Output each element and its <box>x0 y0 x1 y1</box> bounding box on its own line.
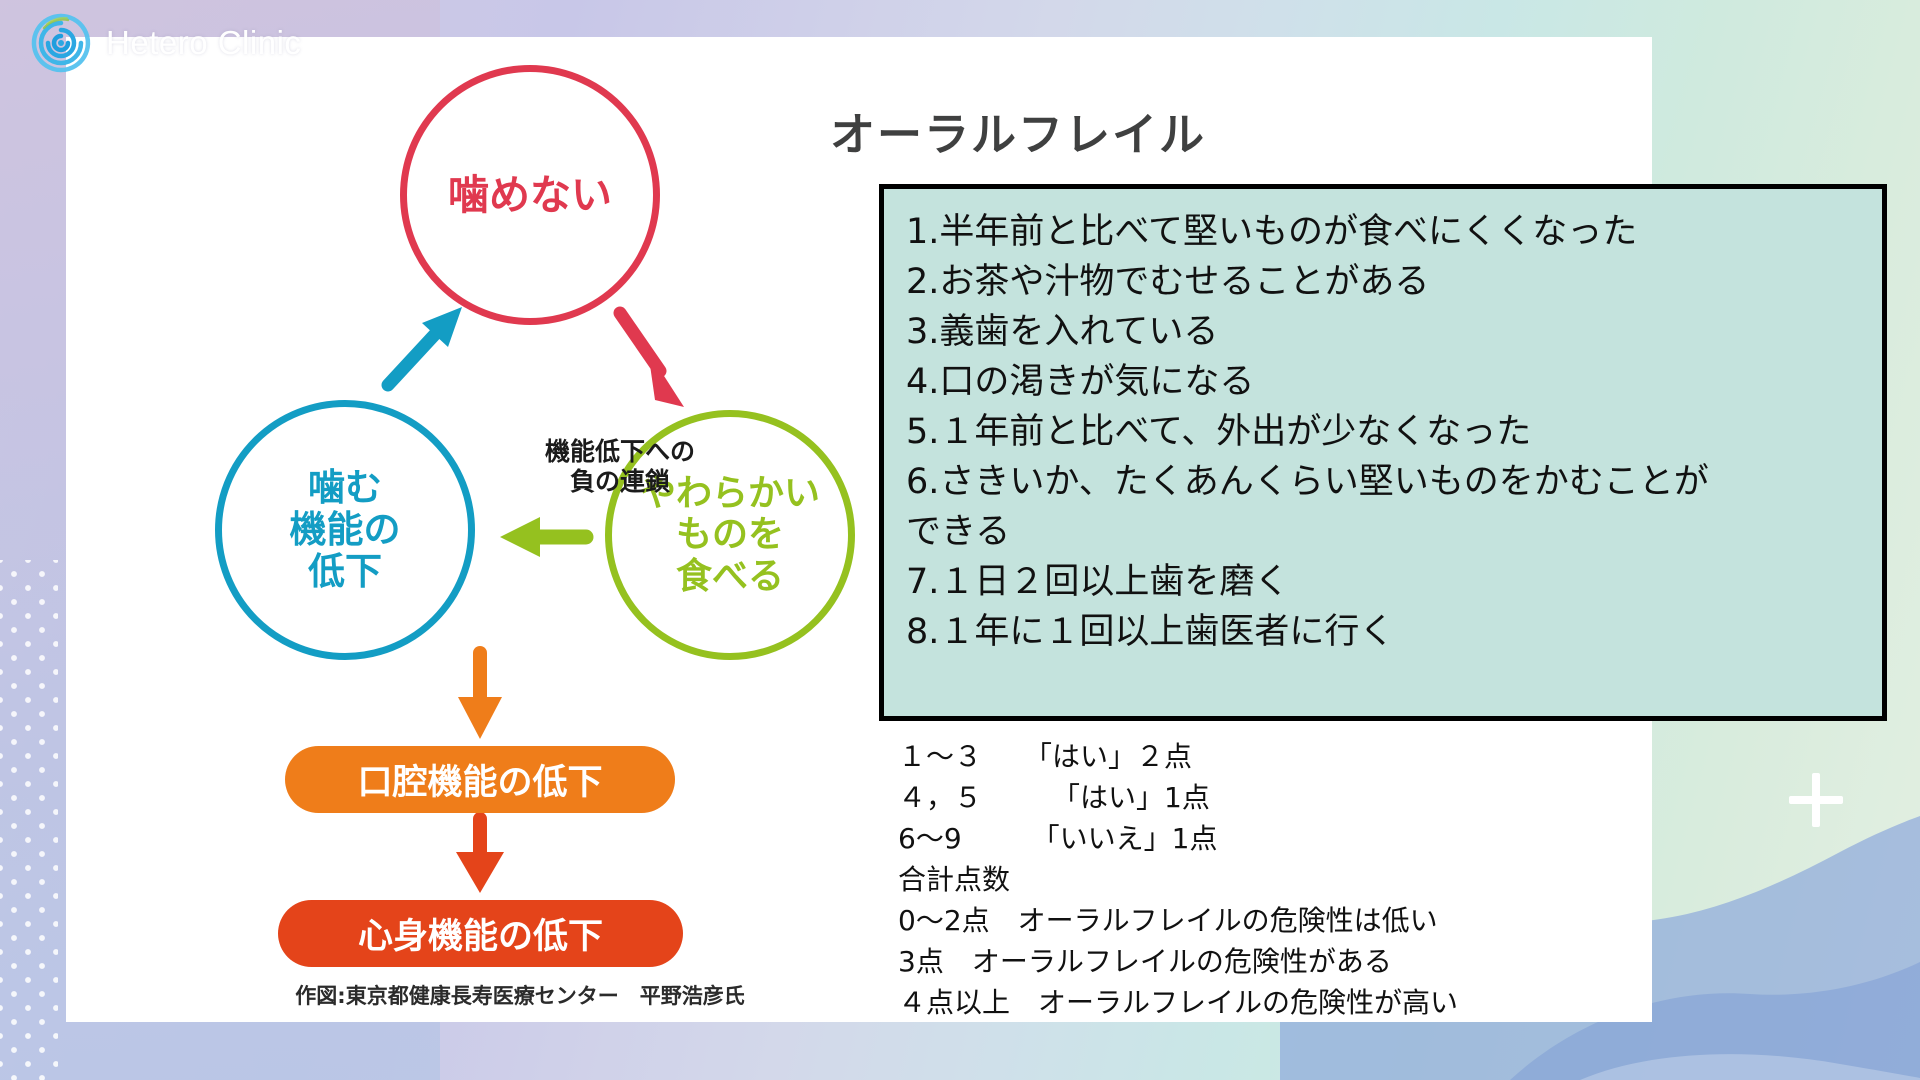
scoring-line: ４，５ 「はい」1点 <box>898 777 1658 818</box>
checklist-item: 1.半年前と比べて堅いものが食べにくくなった <box>906 207 1860 257</box>
scoring-line: 3点 オーラルフレイルの危険性がある <box>898 941 1658 982</box>
scoring-line: 合計点数 <box>898 859 1658 900</box>
checklist-item: 2.お茶や汁物でむせることがある <box>906 257 1860 307</box>
diagram-circle-chewing-function-decline: 噛む 機能の 低下 <box>215 400 475 660</box>
checklist-item: 7.１日２回以上歯を磨く <box>906 557 1860 607</box>
checklist-item: 6.さきいか、たくあんくらい堅いものをかむことが できる <box>906 457 1860 557</box>
oral-frailty-checklist-panel: 1.半年前と比べて堅いものが食べにくくなった 2.お茶や汁物でむせることがある … <box>879 184 1887 721</box>
diagram-negative-chain-label: 機能低下への 負の連鎖 <box>510 437 730 496</box>
spiral-logo-icon <box>30 12 92 74</box>
diagram-circle-cannot-chew: 噛めない <box>400 65 660 325</box>
page-title: オーラルフレイル <box>830 98 1206 163</box>
diagram-bar-physical-mental-decline: 心身機能の低下 <box>278 900 683 967</box>
diagram-credit: 作図:東京都健康長寿医療センター 平野浩彦氏 <box>230 980 810 1010</box>
checklist-item: 3.義歯を入れている <box>906 307 1860 357</box>
checklist-list: 1.半年前と比べて堅いものが食べにくくなった 2.お茶や汁物でむせることがある … <box>906 207 1860 657</box>
background-dot-pattern <box>0 560 58 1080</box>
checklist-item: 5.１年前と比べて、外出が少なくなった <box>906 407 1860 457</box>
scoring-line: 0～2点 オーラルフレイルの危険性は低い <box>898 900 1658 941</box>
scoring-legend: １～３ 「はい」２点 ４，５ 「はい」1点 6～9 「いいえ」1点 合計点数 0… <box>898 736 1658 1023</box>
oral-frailty-cycle-diagram: 噛めない 噛む 機能の 低下 やわらかい ものを 食べる 機能低下への 負の連鎖… <box>150 55 870 975</box>
scoring-line: １～３ 「はい」２点 <box>898 736 1658 777</box>
scoring-line: 6～9 「いいえ」1点 <box>898 818 1658 859</box>
checklist-item: 4.口の渇きが気になる <box>906 357 1860 407</box>
checklist-item: 8.１年に１回以上歯医者に行く <box>906 607 1860 657</box>
plus-decoration-icon <box>1789 773 1843 827</box>
scoring-line: ４点以上 オーラルフレイルの危険性が高い <box>898 982 1658 1023</box>
diagram-bar-oral-function-decline: 口腔機能の低下 <box>285 746 675 813</box>
